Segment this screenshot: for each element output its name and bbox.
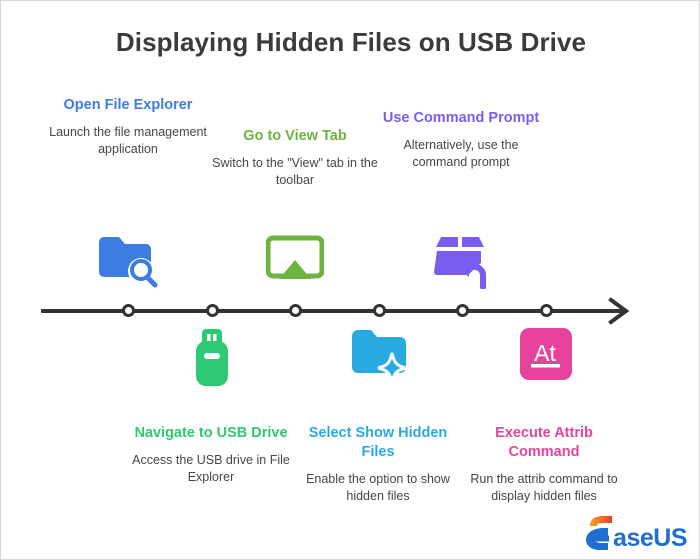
step-go-to-view-tab: Go to View Tab Switch to the "View" tab … xyxy=(211,127,379,189)
step-description: Alternatively, use the command prompt xyxy=(377,137,545,171)
timeline-marker-3[interactable] xyxy=(289,304,302,317)
timeline-marker-2[interactable] xyxy=(206,304,219,317)
timeline-marker-4[interactable] xyxy=(373,304,386,317)
timeline-marker-6[interactable] xyxy=(540,304,553,317)
step-description: Enable the option to show hidden files xyxy=(294,471,462,505)
timeline-arrowhead-icon xyxy=(607,295,631,332)
step-heading: Execute Attrib Command xyxy=(460,424,628,462)
step-open-file-explorer: Open File Explorer Launch the file manag… xyxy=(44,96,212,158)
folder-search-icon xyxy=(93,234,163,295)
folder-sparkle-icon xyxy=(344,326,414,387)
step-description: Switch to the "View" tab in the toolbar xyxy=(211,155,379,189)
step-select-show-hidden-files: Select Show Hidden Files Enable the opti… xyxy=(294,424,462,505)
step-heading: Go to View Tab xyxy=(211,127,379,146)
timeline-marker-5[interactable] xyxy=(456,304,469,317)
attribute-at-icon: At xyxy=(511,326,581,387)
step-use-command-prompt: Use Command Prompt Alternatively, use th… xyxy=(377,109,545,171)
step-execute-attrib-command: Execute Attrib Command Run the attrib co… xyxy=(460,424,628,505)
infographic-canvas: Displaying Hidden Files on USB Drive Ope… xyxy=(0,0,700,560)
easeus-e-mark-icon xyxy=(582,515,616,551)
attribute-at-icon-label: At xyxy=(534,340,556,366)
screencast-icon xyxy=(260,234,330,291)
step-description: Launch the file management application xyxy=(44,124,212,158)
easeus-logo[interactable]: aseUS xyxy=(582,515,687,551)
step-description: Run the attrib command to display hidden… xyxy=(460,471,628,505)
unarchive-box-icon xyxy=(427,231,497,294)
step-heading: Select Show Hidden Files xyxy=(294,424,462,462)
timeline-marker-1[interactable] xyxy=(122,304,135,317)
step-heading: Navigate to USB Drive xyxy=(127,424,295,443)
step-heading: Use Command Prompt xyxy=(377,109,545,128)
step-description: Access the USB drive in File Explorer xyxy=(127,452,295,486)
usb-drive-icon xyxy=(177,326,247,393)
step-navigate-to-usb-drive: Navigate to USB Drive Access the USB dri… xyxy=(127,424,295,486)
easeus-logo-text: aseUS xyxy=(613,526,687,551)
step-heading: Open File Explorer xyxy=(44,96,212,115)
page-title: Displaying Hidden Files on USB Drive xyxy=(1,27,700,58)
